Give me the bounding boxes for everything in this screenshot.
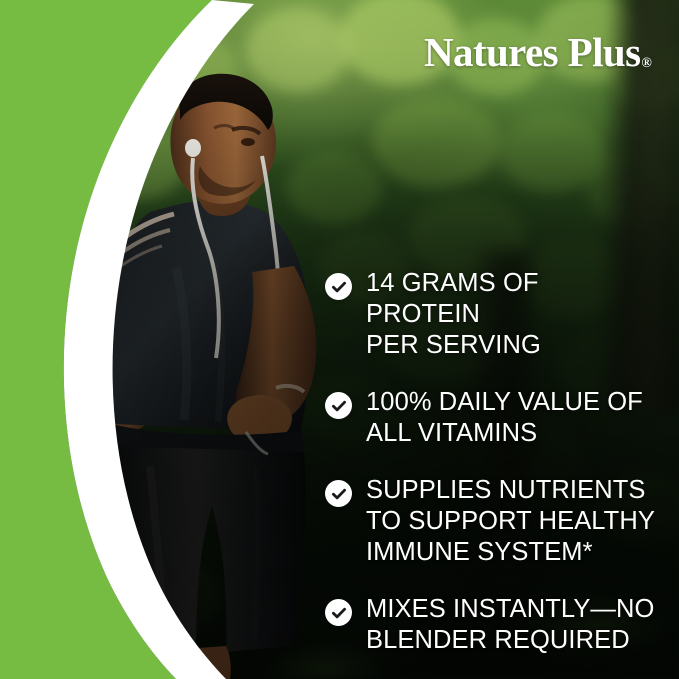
benefit-text: 100% DAILY VALUE OF ALL VITAMINS (366, 387, 643, 449)
benefit-item: MIXES INSTANTLY—NO BLENDER REQUIRED (325, 594, 655, 656)
registered-trademark-icon: ® (641, 56, 651, 71)
benefits-list: 14 GRAMS OF PROTEIN PER SERVING 100% DAI… (325, 268, 655, 656)
check-circle-icon (325, 392, 352, 419)
check-circle-icon (325, 599, 352, 626)
benefit-item: SUPPLIES NUTRIENTS TO SUPPORT HEALTHY IM… (325, 475, 655, 568)
benefit-item: 14 GRAMS OF PROTEIN PER SERVING (325, 268, 655, 361)
brand-logo-text: Natures Plus (424, 29, 640, 75)
benefit-text: 14 GRAMS OF PROTEIN PER SERVING (366, 268, 655, 361)
benefit-item: 100% DAILY VALUE OF ALL VITAMINS (325, 387, 655, 449)
brand-logo: Natures Plus® (424, 32, 651, 73)
product-benefits-banner: Natures Plus® 14 GRAMS OF PROTEIN PER SE… (0, 0, 679, 679)
check-circle-icon (325, 273, 352, 300)
benefit-text: MIXES INSTANTLY—NO BLENDER REQUIRED (366, 594, 654, 656)
benefit-text: SUPPLIES NUTRIENTS TO SUPPORT HEALTHY IM… (366, 475, 655, 568)
check-circle-icon (325, 480, 352, 507)
